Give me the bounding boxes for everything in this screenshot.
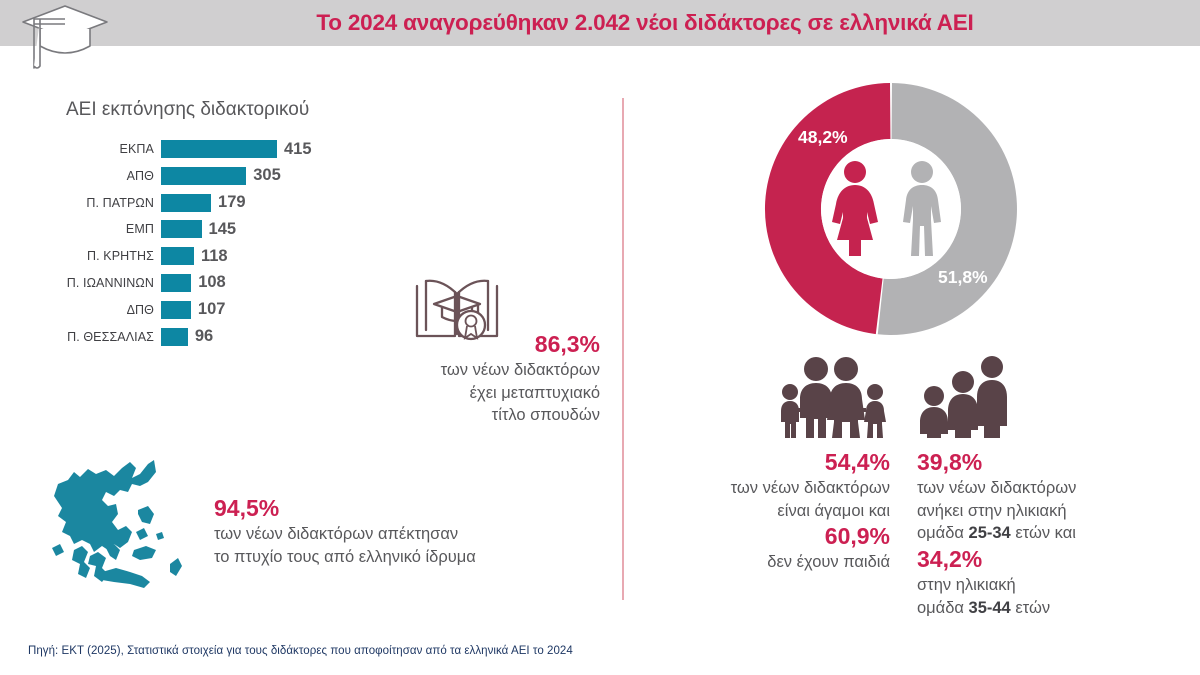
bar-row: Π. ΠΑΤΡΩΝ179 [46,192,376,214]
graduation-cap-icon [18,2,114,70]
masters-line-2: έχει μεταπτυχιακό [330,382,600,405]
bar-value: 415 [284,140,312,159]
bar-value: 305 [253,166,281,185]
bar-fill [161,194,211,212]
male-figure-icon [903,161,941,256]
ages-range-1: 25-34 [969,524,1011,542]
bar-fill [161,274,191,292]
bar-fill [161,247,194,265]
bar-track: 108 [161,273,376,292]
bar-row: Π. ΘΕΣΣΑΛΙΑΣ96 [46,326,376,348]
bar-value: 118 [201,247,228,266]
three-people-growing-icon [917,356,1011,438]
bar-row: ΕΜΠ145 [46,218,376,240]
bar-track: 305 [161,166,376,185]
bar-label: Π. ΚΡΗΤΗΣ [46,249,161,263]
family-line-3: δεν έχουν παιδιά [640,551,890,574]
ages-line-5-post: ετών [1011,599,1050,617]
female-figure-icon [832,161,878,256]
masters-percent: 86,3% [330,330,600,359]
bar-row: Π. ΙΩΑΝΝΙΝΩΝ108 [46,272,376,294]
bar-label: Π. ΠΑΤΡΩΝ [46,196,161,210]
bar-value: 145 [209,220,237,239]
vertical-divider [622,98,624,600]
bar-fill [161,328,188,346]
ages-percent-2: 34,2% [917,545,1177,574]
greece-map-icon [44,452,206,604]
bar-label: Π. ΙΩΑΝΝΙΝΩΝ [46,276,161,290]
bar-value: 96 [195,327,213,346]
page-title: Το 2024 αναγορεύθηκαν 2.042 νέοι διδάκτο… [130,0,1160,46]
family-percent-1: 54,4% [640,448,890,477]
bar-label: ΕΚΠΑ [46,142,161,156]
masters-line-3: τίτλο σπουδών [330,404,600,427]
bar-row: Π. ΚΡΗΤΗΣ118 [46,245,376,267]
bar-track: 415 [161,140,376,159]
ages-line-5-pre: ομάδα [917,599,969,617]
greece-line-1: των νέων διδακτόρων απέκτησαν [214,523,594,546]
donut-male-label: 51,8% [938,267,988,288]
bar-label: Π. ΘΕΣΣΑΛΙΑΣ [46,330,161,344]
masters-stat-block: 86,3% των νέων διδακτόρων έχει μεταπτυχι… [330,330,600,427]
family-line-2: είναι άγαμοι και [640,500,890,523]
bar-track: 107 [161,300,376,319]
ages-line-4: στην ηλικιακή [917,574,1177,597]
bar-row: ΔΠΘ107 [46,299,376,321]
bar-value: 107 [198,300,226,319]
bar-chart: ΕΚΠΑ415ΑΠΘ305Π. ΠΑΤΡΩΝ179ΕΜΠ145Π. ΚΡΗΤΗΣ… [46,138,376,352]
family-of-four-icon [772,356,890,438]
donut-female-label: 48,2% [798,127,848,148]
masters-line-1: των νέων διδακτόρων [330,359,600,382]
ages-line-3: ομάδα 25-34 ετών και [917,522,1177,545]
ages-percent-1: 39,8% [917,448,1177,477]
ages-stat-block: 39,8% των νέων διδακτόρων ανήκει στην ηλ… [917,448,1177,619]
bar-track: 179 [161,193,376,212]
bar-chart-title: ΑΕΙ εκπόνησης διδακτορικού [66,99,309,121]
greece-line-2: το πτυχίο τους από ελληνικό ίδρυμα [214,546,594,569]
ages-line-1: των νέων διδακτόρων [917,477,1177,500]
greece-percent: 94,5% [214,494,594,523]
ages-range-2: 35-44 [969,599,1011,617]
family-stat-block: 54,4% των νέων διδακτόρων είναι άγαμοι κ… [640,448,890,574]
gender-figures [825,160,955,256]
source-note: Πηγή: ΕΚΤ (2025), Στατιστικά στοιχεία γι… [28,645,573,657]
family-percent-2: 60,9% [640,522,890,551]
bar-label: ΑΠΘ [46,169,161,183]
ages-line-2: ανήκει στην ηλικιακή [917,500,1177,523]
ages-line-3-pre: ομάδα [917,524,969,542]
bar-fill [161,301,191,319]
bar-fill [161,140,277,158]
bar-fill [161,220,202,238]
ages-line-5: ομάδα 35-44 ετών [917,597,1177,620]
greece-stat-block: 94,5% των νέων διδακτόρων απέκτησαν το π… [214,494,594,568]
ages-line-3-post: ετών και [1011,524,1076,542]
bar-row: ΑΠΘ305 [46,165,376,187]
bar-row: ΕΚΠΑ415 [46,138,376,160]
bar-track: 118 [161,247,376,266]
bar-fill [161,167,246,185]
bar-track: 145 [161,220,376,239]
bar-value: 179 [218,193,246,212]
bar-label: ΕΜΠ [46,222,161,236]
family-line-1: των νέων διδακτόρων [640,477,890,500]
bar-label: ΔΠΘ [46,303,161,317]
bar-value: 108 [198,273,226,292]
